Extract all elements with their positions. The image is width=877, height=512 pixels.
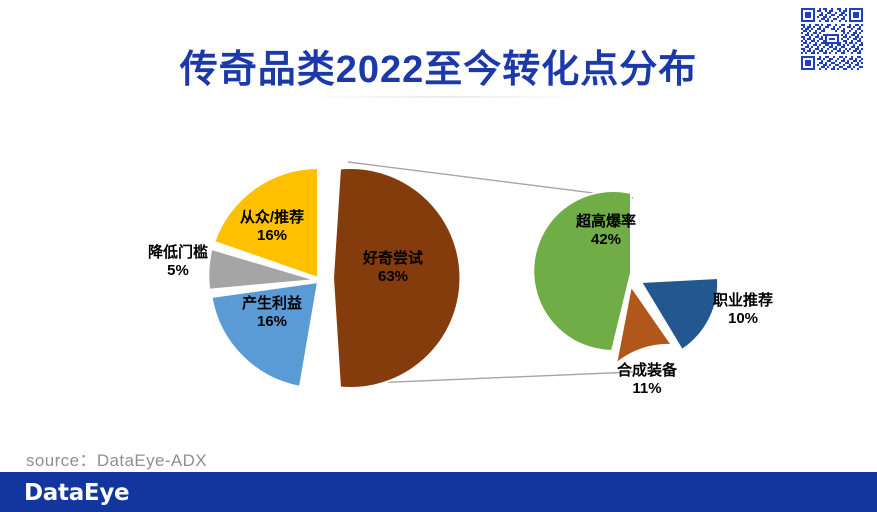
pie-label-low-barrier-category: 降低门槛 — [128, 244, 228, 262]
pie-label-benefit-percent: 16% — [222, 313, 322, 331]
pie-label-benefit-category: 产生利益 — [222, 295, 322, 313]
subpie-label-class-recommend: 职业推荐 10% — [688, 292, 798, 327]
pie-label-bandwagon-category: 从众/推荐 — [217, 209, 327, 227]
source-note: source：DataEye-ADX — [26, 446, 207, 471]
pie-label-bandwagon: 从众/推荐 16% — [217, 209, 327, 244]
dataeye-logo: DataEye — [24, 480, 129, 506]
pie-label-benefit: 产生利益 16% — [222, 295, 322, 330]
page-title: 传奇品类2022至今转化点分布 — [0, 38, 877, 93]
subpie-label-crafting-percent: 11% — [592, 380, 702, 398]
pie-label-low-barrier: 降低门槛 5% — [128, 244, 228, 279]
pie-label-bandwagon-percent: 16% — [217, 227, 327, 245]
qr-code-icon — [799, 6, 865, 72]
subpie-label-high-drop-rate: 超高爆率 42% — [551, 213, 661, 248]
subpie-label-class-recommend-category: 职业推荐 — [688, 292, 798, 310]
slide-root: 传奇品类2022至今转化点分布 — [0, 0, 877, 512]
subpie-label-high-drop-rate-percent: 42% — [551, 231, 661, 249]
footer-bar: DataEye — [0, 472, 877, 512]
subpie-label-crafting: 合成装备 11% — [592, 362, 702, 397]
subpie-label-class-recommend-percent: 10% — [688, 310, 798, 328]
pie-of-pie-chart: 好奇尝试 63% 从众/推荐 16% 产生利益 16% 降低门槛 5% 超高爆率… — [0, 110, 877, 430]
title-underline-divider — [300, 96, 590, 98]
pie-label-curiosity-category: 好奇尝试 — [338, 250, 448, 268]
pie-label-curiosity: 好奇尝试 63% — [338, 250, 448, 285]
subpie-label-crafting-category: 合成装备 — [592, 362, 702, 380]
pie-label-low-barrier-percent: 5% — [128, 262, 228, 280]
pie-label-curiosity-percent: 63% — [338, 268, 448, 286]
subpie-label-high-drop-rate-category: 超高爆率 — [551, 213, 661, 231]
